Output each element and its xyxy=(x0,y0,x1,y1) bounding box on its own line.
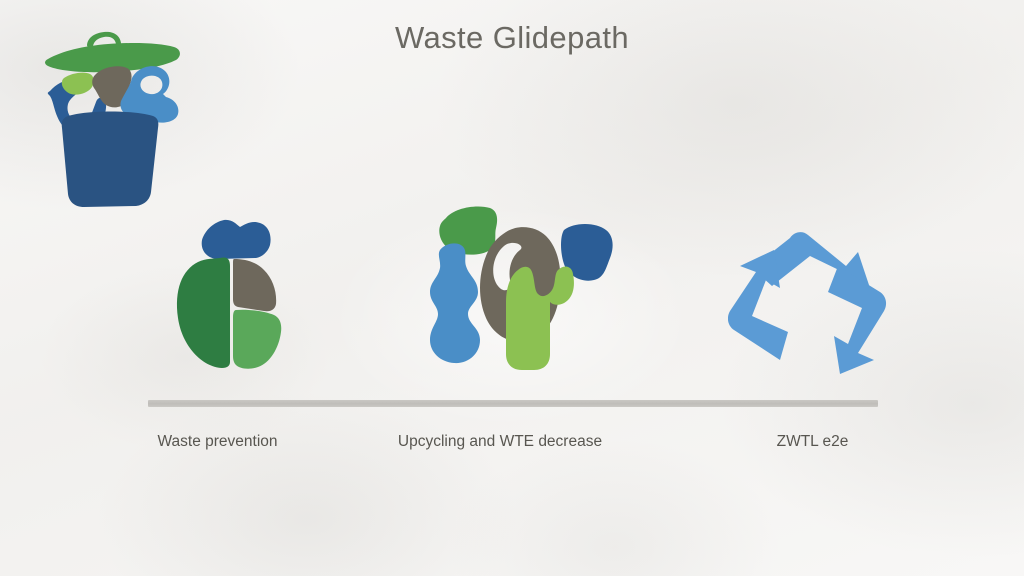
bin-lid-part xyxy=(45,32,180,72)
trash-bag-icon xyxy=(172,214,302,369)
bag-tie-part xyxy=(202,220,271,259)
bag-top-right-part xyxy=(233,259,276,311)
bag-bottom-right-part xyxy=(233,310,281,369)
blue-bottle-part xyxy=(430,243,480,363)
recycling-symbol-icon xyxy=(728,226,893,374)
bag-left-part xyxy=(177,257,230,368)
stage-label-prevention: Waste prevention xyxy=(105,432,330,453)
stage-label-zwtl: ZWTL e2e xyxy=(700,432,925,453)
recycle-arrow-right-part xyxy=(828,266,886,374)
stage-label-upcycling: Upcycling and WTE decrease xyxy=(385,432,615,453)
glidepath-baseline xyxy=(148,400,878,407)
bin-item-green-scrap-part xyxy=(62,73,94,95)
bin-body-part xyxy=(62,112,159,208)
waste-glidepath-slide: Waste Glidepath xyxy=(0,0,1024,576)
overflowing-trash-bin-icon xyxy=(38,26,188,211)
mixed-recyclables-icon xyxy=(418,198,618,373)
